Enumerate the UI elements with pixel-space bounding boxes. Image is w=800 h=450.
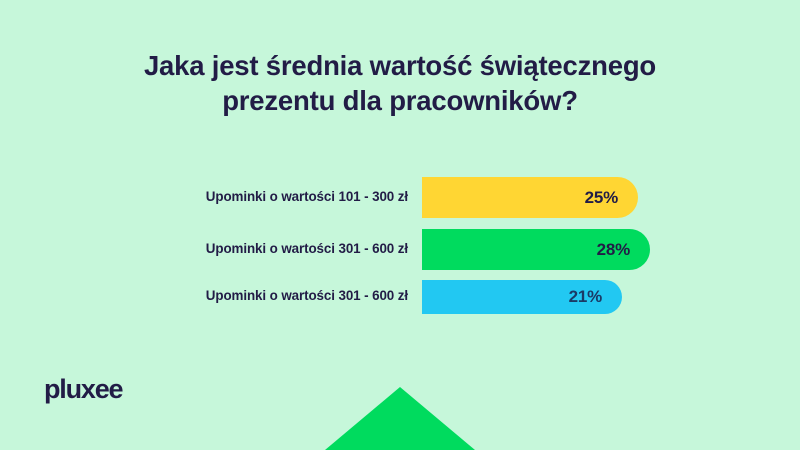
pluxee-logo: pluxee (44, 374, 122, 404)
chart-row: Upominki o wartości 101 - 300 zł 25% (0, 177, 800, 218)
bar-category-label: Upominki o wartości 301 - 600 zł (206, 241, 408, 256)
bar-category-label: Upominki o wartości 101 - 300 zł (206, 189, 408, 204)
bar-segment: 25% (422, 177, 638, 218)
bar-value-label: 28% (597, 240, 630, 260)
bar-segment: 21% (422, 280, 622, 314)
chart-row: Upominki o wartości 301 - 600 zł 21% (0, 280, 800, 314)
bar-value-label: 21% (569, 287, 602, 307)
bar-value-label: 25% (585, 188, 618, 208)
triangle-decoration (325, 387, 475, 450)
chart-row: Upominki o wartości 301 - 600 zł 28% (0, 229, 800, 270)
bar-category-label: Upominki o wartości 301 - 600 zł (206, 288, 408, 303)
infographic-canvas: Jaka jest średnia wartość świątecznego p… (0, 0, 800, 450)
bar-segment: 28% (422, 229, 650, 270)
